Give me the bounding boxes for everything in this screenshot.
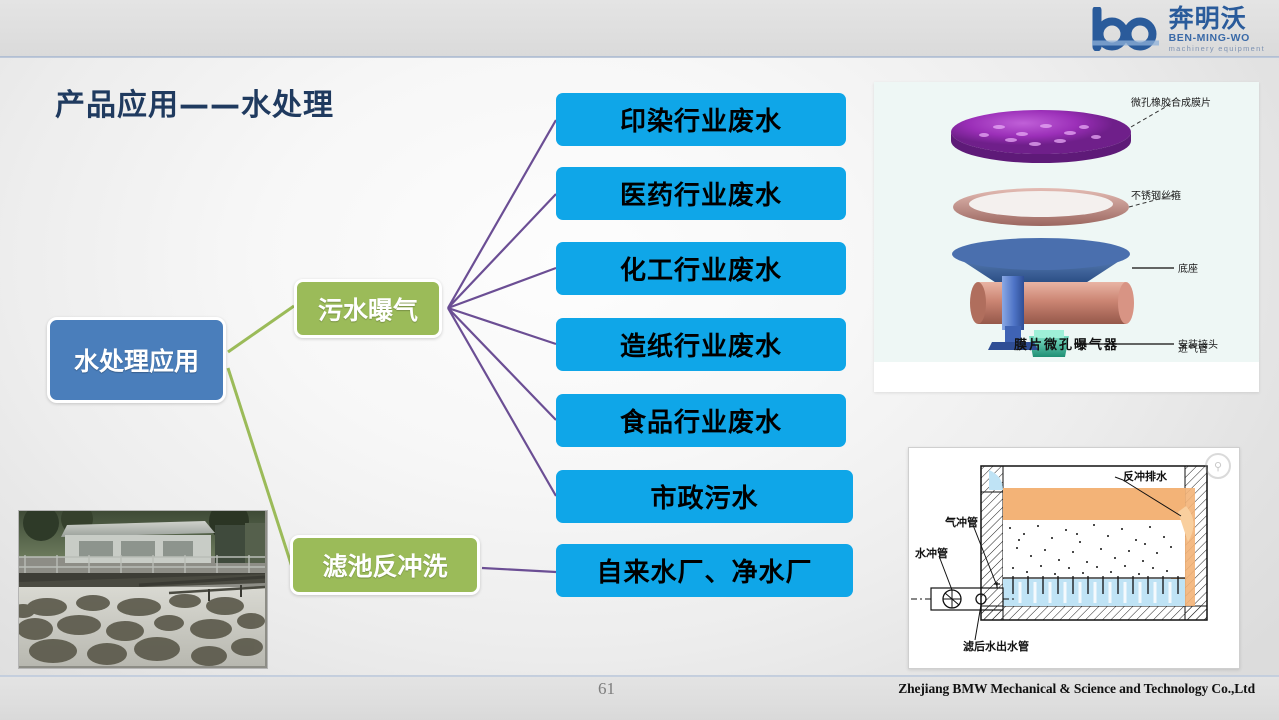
- node-leaf-label: 食品行业废水: [620, 402, 782, 439]
- node-leaf-food[interactable]: 食品行业废水: [556, 394, 846, 447]
- logo-chinese-name: 奔明沃: [1169, 6, 1265, 31]
- node-branch-label: 污水曝气: [318, 291, 418, 327]
- filter-label-water-wash-pipe: 水冲管: [915, 545, 948, 561]
- aeration-tank-photo: [18, 510, 268, 669]
- node-leaf-label: 造纸行业废水: [620, 326, 782, 363]
- node-leaf-printing-dyeing[interactable]: 印染行业废水: [556, 93, 846, 146]
- page-number: 61: [598, 679, 615, 699]
- filter-label-filtered-outlet: 滤后水出水管: [963, 638, 1029, 654]
- aerator-diagram-image: 微孔橡胶合成膜片 不锈钢丝箍 底座 安装接头 膜片微孔曝气器 进气管: [874, 82, 1259, 392]
- node-branch-label: 滤池反冲洗: [322, 547, 447, 583]
- node-root[interactable]: 水处理应用: [47, 317, 226, 403]
- logo-tagline: machinery equipment: [1169, 45, 1265, 53]
- aerator-label-base: 底座: [1178, 260, 1198, 275]
- node-leaf-label: 自来水厂、净水厂: [596, 552, 812, 589]
- page-title: 产品应用——水处理: [55, 80, 334, 124]
- node-leaf-waterworks[interactable]: 自来水厂、净水厂: [556, 544, 853, 597]
- aerator-label-steel-clamp: 不锈钢丝箍: [1131, 187, 1181, 202]
- aerator-diagram-canvas: 微孔橡胶合成膜片 不锈钢丝箍 底座 安装接头 膜片微孔曝气器: [874, 82, 1259, 362]
- node-leaf-label: 市政污水: [650, 478, 758, 515]
- node-leaf-label: 印染行业废水: [620, 101, 782, 138]
- node-leaf-label: 化工行业废水: [620, 250, 782, 287]
- node-leaf-pharmaceutical[interactable]: 医药行业废水: [556, 167, 846, 220]
- aerator-label-membrane: 微孔橡胶合成膜片: [1131, 94, 1211, 109]
- logo-pinyin: BEN-MING-WO: [1169, 33, 1265, 44]
- search-icon: ⚲: [1205, 453, 1231, 479]
- node-leaf-chemical[interactable]: 化工行业废水: [556, 242, 846, 295]
- slide-canvas: 奔明沃 BEN-MING-WO machinery equipment 产品应用…: [0, 0, 1279, 720]
- node-root-label: 水处理应用: [74, 342, 199, 378]
- filter-label-air-scour-pipe: 气冲管: [945, 514, 978, 530]
- node-leaf-paper[interactable]: 造纸行业废水: [556, 318, 846, 371]
- company-logo: 奔明沃 BEN-MING-WO machinery equipment: [1077, 3, 1265, 55]
- node-leaf-label: 医药行业废水: [620, 175, 782, 212]
- filter-label-backwash-drain: 反冲排水: [1123, 468, 1167, 484]
- node-branch-aeration[interactable]: 污水曝气: [294, 279, 442, 338]
- filter-backwash-image: 反冲排水 气冲管 水冲管 滤后水出水管 ⚲: [908, 447, 1240, 669]
- node-leaf-municipal[interactable]: 市政污水: [556, 470, 853, 523]
- bo-monogram-icon: [1091, 7, 1165, 51]
- node-branch-backwash[interactable]: 滤池反冲洗: [290, 535, 480, 595]
- header-divider: [0, 56, 1279, 58]
- aerator-label-inlet-pipe: 进气管: [1178, 340, 1208, 355]
- company-footer-name: Zhejiang BMW Mechanical & Science and Te…: [898, 681, 1255, 697]
